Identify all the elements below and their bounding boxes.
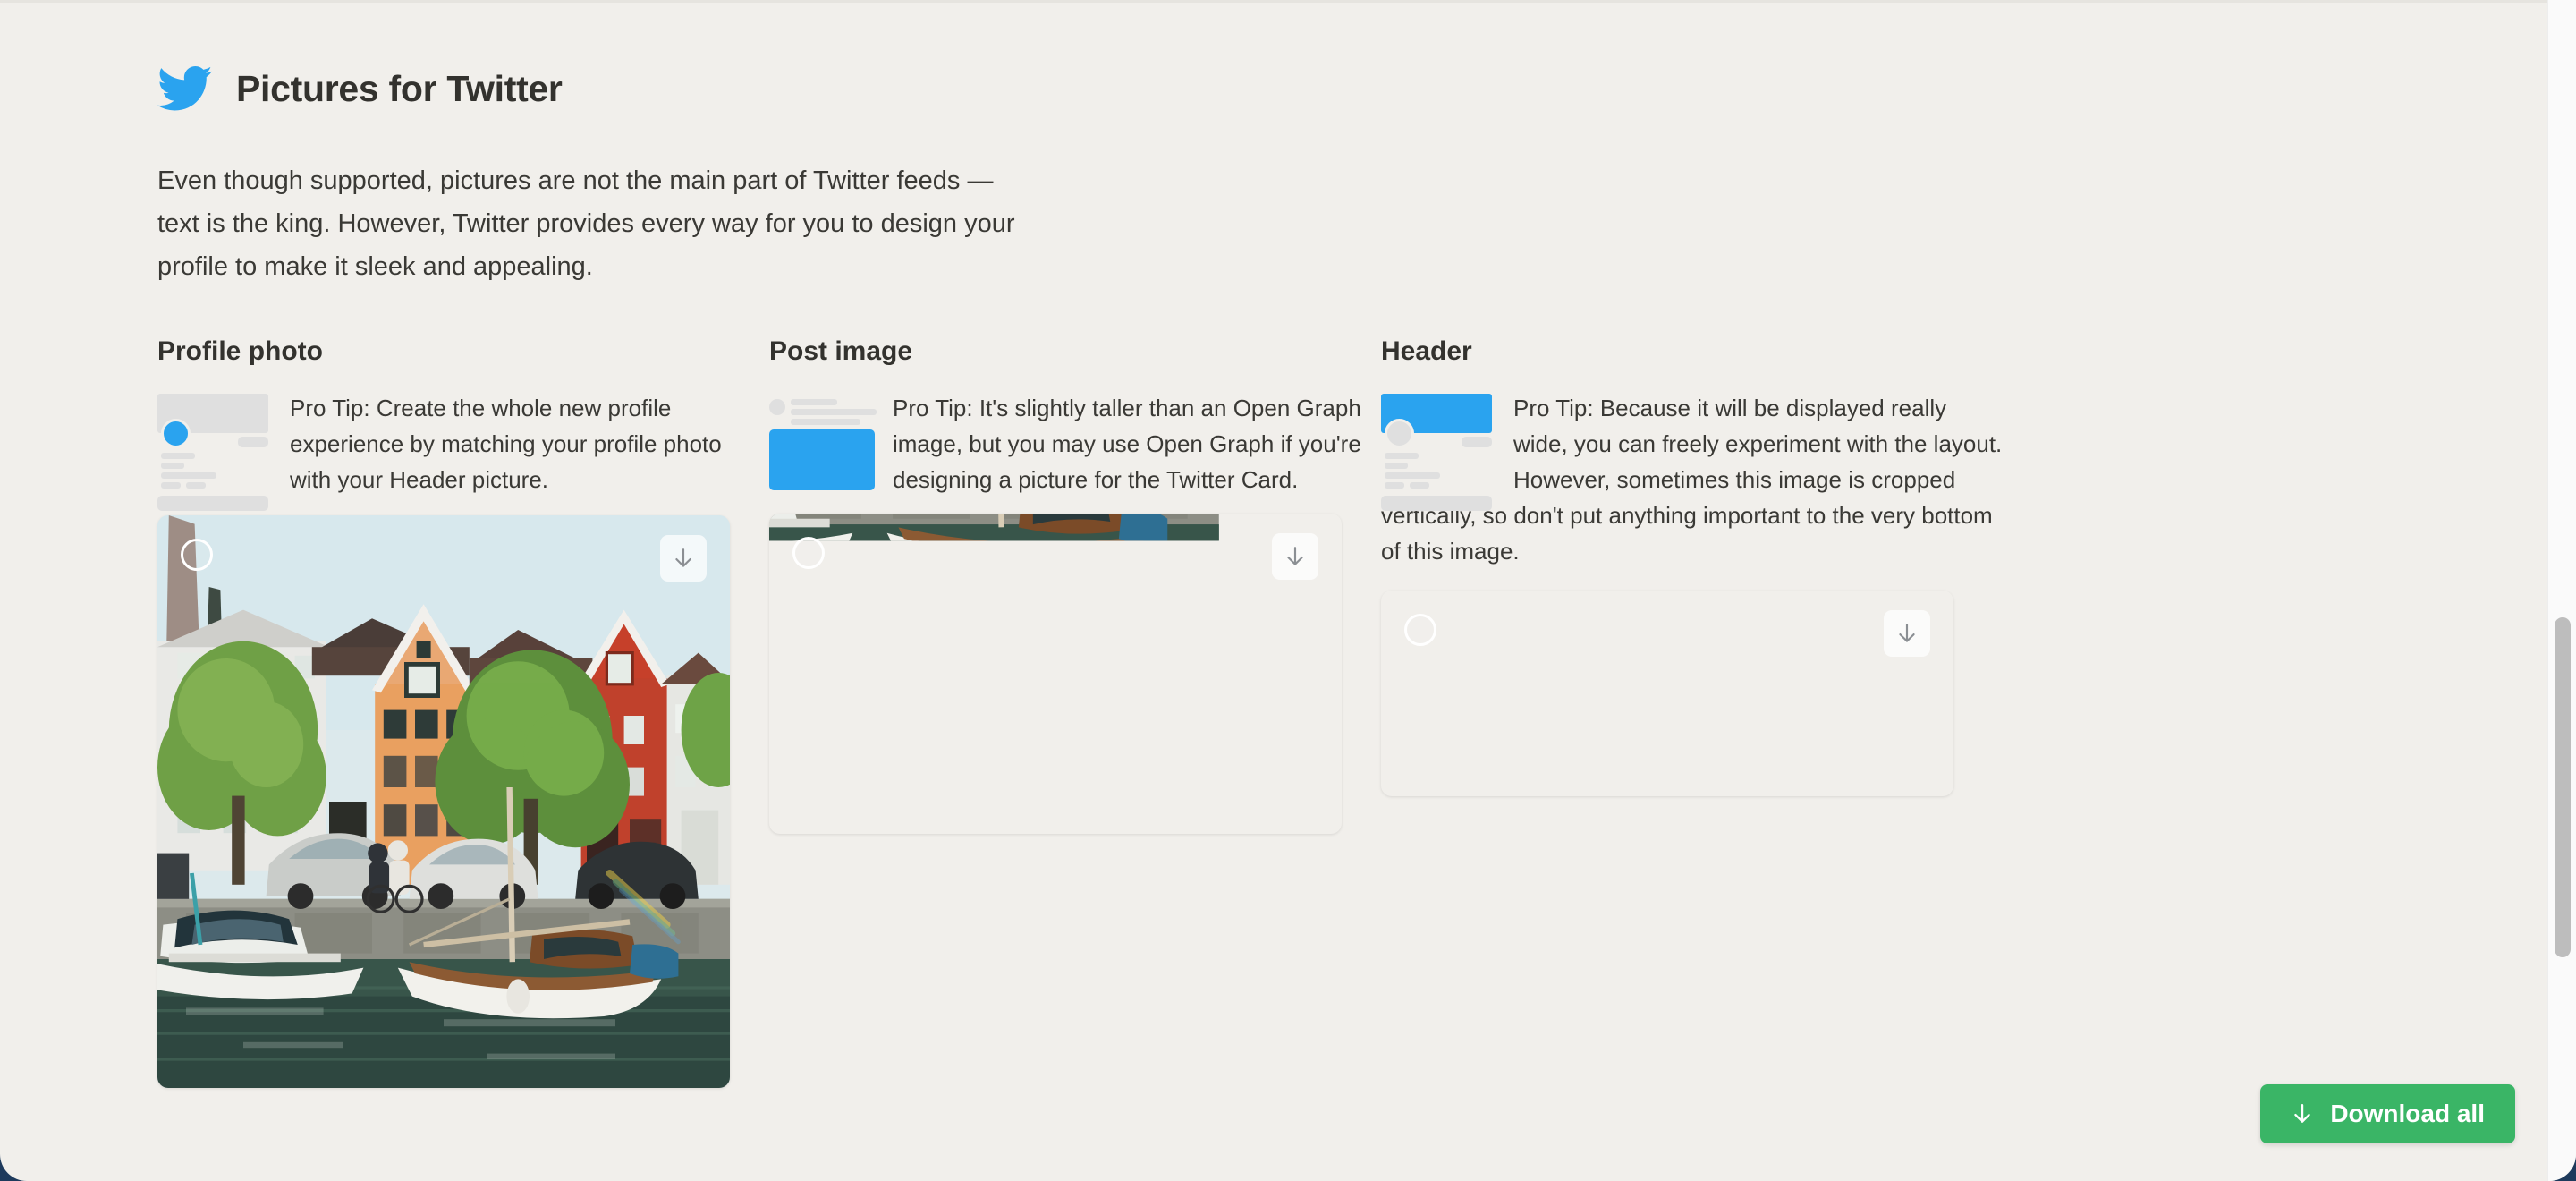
top-divider	[0, 0, 2576, 3]
tip-text-post-image: Pro Tip: It's slightly taller than an Op…	[893, 395, 1361, 493]
header-schematic	[1381, 394, 1497, 481]
profile-photo-image	[157, 515, 730, 1088]
vertical-scrollbar[interactable]	[2547, 0, 2576, 1181]
download-arrow-icon	[1284, 545, 1307, 568]
select-circle-icon[interactable]	[181, 539, 213, 571]
tip-block-header: Pro Tip: Because it will be displayed re…	[1381, 390, 2007, 569]
page-content: Pictures for Twitter Even though support…	[157, 54, 2215, 1088]
post-image-image	[769, 514, 1342, 834]
select-circle-icon[interactable]	[792, 537, 825, 569]
download-button-profile-photo[interactable]	[660, 535, 707, 582]
tip-text-profile-photo: Pro Tip: Create the whole new profile ex…	[290, 395, 722, 493]
page-title: Pictures for Twitter	[236, 68, 563, 110]
download-button-post-image[interactable]	[1272, 533, 1318, 580]
columns-container: Profile photo Pro Tip: Create the whole …	[157, 336, 2215, 1088]
image-card-post-image[interactable]	[769, 514, 1342, 834]
download-arrow-icon	[1895, 622, 1919, 645]
column-title-header: Header	[1381, 336, 2007, 367]
download-all-button[interactable]: Download all	[2260, 1084, 2515, 1143]
page-header: Pictures for Twitter	[157, 54, 2215, 123]
header-image	[1381, 590, 1953, 796]
image-card-profile-photo[interactable]	[157, 515, 730, 1088]
tip-block-post-image: Pro Tip: It's slightly taller than an Op…	[769, 390, 1381, 497]
column-title-profile-photo: Profile photo	[157, 336, 769, 367]
column-post-image: Post image Pro Tip: It's slightly taller…	[769, 336, 1381, 834]
download-all-label: Download all	[2330, 1100, 2485, 1128]
intro-paragraph: Even though supported, pictures are not …	[157, 159, 1016, 288]
download-arrow-icon	[2291, 1102, 2314, 1126]
scrollbar-thumb[interactable]	[2555, 617, 2571, 957]
profile-photo-schematic	[157, 394, 274, 481]
column-profile-photo: Profile photo Pro Tip: Create the whole …	[157, 336, 769, 1088]
select-circle-icon[interactable]	[1404, 614, 1436, 646]
image-card-header[interactable]	[1381, 590, 1953, 796]
post-image-schematic	[769, 394, 877, 467]
column-title-post-image: Post image	[769, 336, 1381, 367]
column-header: Header Pro Tip: Because it will be displ…	[1381, 336, 2007, 796]
download-button-header[interactable]	[1884, 610, 1930, 657]
page-panel: Pictures for Twitter Even though support…	[0, 0, 2576, 1181]
tip-block-profile-photo: Pro Tip: Create the whole new profile ex…	[157, 390, 769, 497]
download-arrow-icon	[672, 547, 695, 570]
twitter-bird-icon	[157, 61, 213, 116]
